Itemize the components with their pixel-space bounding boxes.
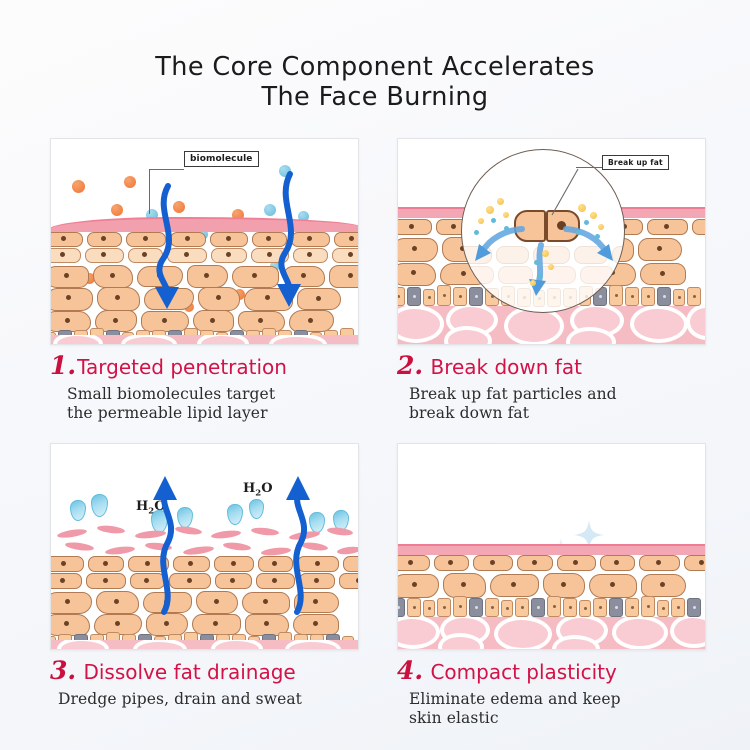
panel-1: biomolecule <box>50 138 359 422</box>
panel-1-caption: 1.Targeted penetration Small biomolecule… <box>50 354 359 422</box>
cell-row-1 <box>397 555 706 571</box>
panel-2-heading-text: Break down fat <box>430 355 581 379</box>
panel-3-subtitle: Dredge pipes, drain and sweat <box>50 690 359 709</box>
panel-1-subtitle-line-2: the permeable lipid layer <box>67 404 359 423</box>
cell-row-4 <box>50 287 359 311</box>
panel-3-heading-text: Dissolve fat drainage <box>83 660 295 684</box>
molecule-orange <box>72 180 85 193</box>
panel-2: Break up fat 2. Break down fat Break up … <box>397 138 706 422</box>
panel-3: H2O H2O <box>50 443 359 709</box>
panel-4-heading-text: Compact plasticity <box>430 660 616 684</box>
panel-2-number: 2. <box>397 351 423 380</box>
callout-leader-diagonal <box>548 167 580 219</box>
cell-row-1 <box>50 232 359 247</box>
panel-4-caption: 4. Compact plasticity Eliminate edema an… <box>397 659 706 727</box>
fat-particle <box>503 212 509 218</box>
panel-4-subtitle: Eliminate edema and keep skin elastic <box>397 690 706 727</box>
panel-grid: biomolecule <box>50 138 706 734</box>
epidermis-layer <box>50 217 359 232</box>
panel-4-subtitle-line-2: skin elastic <box>409 709 706 728</box>
fat-particle <box>595 234 600 239</box>
fat-particle <box>534 260 539 265</box>
subcutaneous-fat <box>398 617 705 649</box>
panel-4-number: 4. <box>397 656 423 685</box>
title-line-1: The Core Component Accelerates <box>155 52 594 82</box>
panel-3-heading: 3. Dissolve fat drainage <box>50 659 359 684</box>
basal-layer <box>397 596 706 616</box>
fat-particle <box>590 212 597 219</box>
fat-particle <box>548 264 554 270</box>
molecule-orange <box>124 176 136 188</box>
dispersal-arrow-down <box>524 242 558 303</box>
infographic-page: The Core Component Accelerates The Face … <box>0 0 750 750</box>
subcutaneous-fat <box>51 640 358 649</box>
panel-4: 4. Compact plasticity Eliminate edema an… <box>397 443 706 727</box>
panel-4-figure <box>397 443 706 650</box>
epidermis-layer <box>397 544 706 555</box>
panel-3-number: 3. <box>50 656 76 685</box>
panel-1-subtitle-line-1: Small biomolecules target <box>67 385 359 404</box>
dispersal-arrow-right <box>562 224 618 269</box>
penetration-arrow-right <box>266 171 312 316</box>
panel-4-heading: 4. Compact plasticity <box>397 659 706 684</box>
panel-1-number: 1. <box>50 351 76 380</box>
panel-3-figure: H2O H2O <box>50 443 359 650</box>
surface-air <box>398 444 705 548</box>
fat-particle <box>538 274 543 279</box>
panel-2-caption: 2. Break down fat Break up fat particles… <box>397 354 706 422</box>
penetration-arrow-left <box>146 183 192 318</box>
panel-2-subtitle-line-1: Break up fat particles and <box>409 385 706 404</box>
panel-1-heading: 1.Targeted penetration <box>50 354 359 379</box>
panel-1-heading-text: Targeted penetration <box>77 355 287 379</box>
callout-leader-line <box>149 169 184 170</box>
panel-2-heading: 2. Break down fat <box>397 354 706 379</box>
panel-4-subtitle-line-1: Eliminate edema and keep <box>409 690 706 709</box>
fat-particle <box>478 218 484 224</box>
h2o-label-right: H2O <box>243 481 273 499</box>
magnifier-circle <box>461 149 625 313</box>
panel-2-figure: Break up fat <box>397 138 706 345</box>
fat-particle <box>474 230 479 235</box>
callout-break-up-fat: Break up fat <box>602 155 669 170</box>
fat-particle <box>542 250 549 257</box>
panel-1-subtitle: Small biomolecules target the permeable … <box>50 385 359 422</box>
title-line-2: The Face Burning <box>0 82 750 112</box>
panel-1-figure: biomolecule <box>50 138 359 345</box>
subcutaneous-fat <box>51 335 358 344</box>
panel-3-subtitle-line-1: Dredge pipes, drain and sweat <box>58 690 359 709</box>
fat-particle <box>486 206 494 214</box>
fat-particle <box>598 224 604 230</box>
drainage-arrow-left <box>148 474 184 621</box>
cell-row-2 <box>50 248 359 263</box>
fat-particle <box>576 230 581 235</box>
fat-particle <box>584 220 589 225</box>
cell-row-2 <box>397 573 706 598</box>
panel-2-subtitle: Break up fat particles and break down fa… <box>397 385 706 422</box>
fat-particle <box>497 198 504 205</box>
cell-row-3 <box>50 265 359 288</box>
fat-particle <box>504 226 509 231</box>
fat-particle <box>530 280 536 286</box>
drainage-arrow-right <box>279 474 315 621</box>
callout-biomolecule: biomolecule <box>184 151 259 167</box>
molecule-orange <box>111 204 123 216</box>
fat-particle <box>491 218 496 223</box>
page-title: The Core Component Accelerates The Face … <box>0 52 750 112</box>
panel-2-subtitle-line-2: break down fat <box>409 404 706 423</box>
panel-3-caption: 3. Dissolve fat drainage Dredge pipes, d… <box>50 659 359 709</box>
